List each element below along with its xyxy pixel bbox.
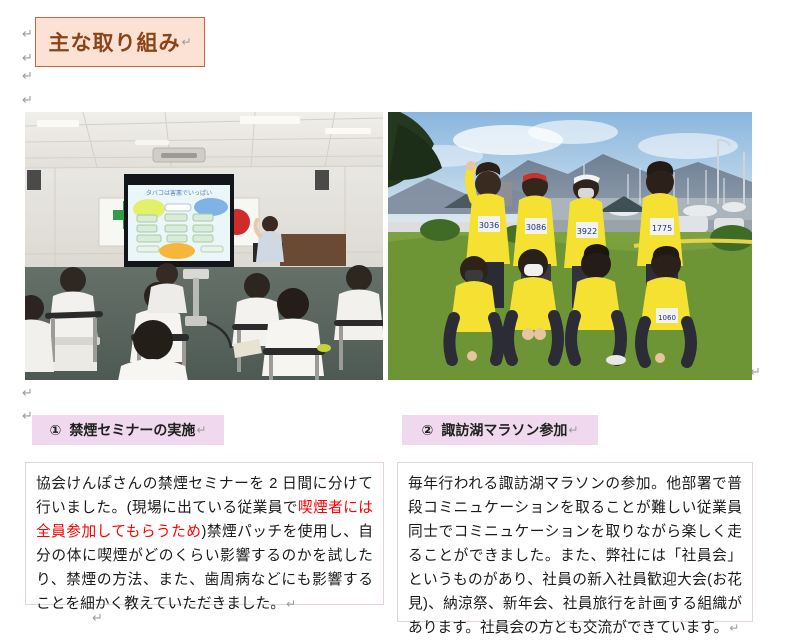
body-left-return-mark: ↵ [285,597,296,611]
para-mark-below-photos: ↵ [22,387,33,400]
marathon-photo-graphic: 3036 3086 3922 [388,112,752,380]
svg-text:3086: 3086 [526,223,546,232]
smoking-cessation-seminar-photo: タバコは害悪でいっぱい [25,112,383,380]
caption-1-return-mark: ↵ [195,423,206,437]
section-title-box: 主な取り組み↵ [35,17,205,67]
body-text-box-right: 毎年行われる諏訪湖マラソンの参加。他部署で普段コミニュケーションを取ることが難し… [397,462,753,622]
caption-box-1: ① 禁煙セミナーの実施↵ [32,415,224,445]
body-right-return-mark: ↵ [728,621,739,635]
svg-text:1775: 1775 [652,224,672,233]
caption-1-number: ① [50,422,62,439]
document-page: ↵ ↵ ↵ ↵ ↵ ↵ ↵ ↵ 主な取り組み↵ [0,0,791,636]
title-return-mark: ↵ [180,35,191,49]
caption-2-number: ② [422,422,434,439]
caption-box-2: ② 諏訪湖マラソン参加↵ [402,415,598,445]
body-text-box-left: 協会けんぽさんの禁煙セミナーを 2 日間に分けて行いました。(現場に出ている従業… [25,462,384,605]
caption-2-return-mark: ↵ [567,423,578,437]
svg-text:タバコは害悪でいっぱい: タバコは害悪でいっぱい [146,189,212,197]
para-mark-below-title: ↵ [22,70,33,83]
body-right-paragraph: 毎年行われる諏訪湖マラソンの参加。他部署で普段コミニュケーションを取ることが難し… [408,472,742,640]
body-right-part1: 毎年行われる諏訪湖マラソンの参加。他部署で普段コミニュケーションを取ることが難し… [408,476,742,636]
para-mark-above-photos: ↵ [22,94,33,107]
body-left-paragraph: 協会けんぽさんの禁煙セミナーを 2 日間に分けて行いました。(現場に出ている従業… [36,472,373,616]
svg-text:1060: 1060 [658,314,676,322]
para-mark-top-left-2: ↵ [22,52,33,65]
svg-text:3036: 3036 [479,221,499,230]
caption-1-label: 禁煙セミナーの実施 [69,420,195,440]
seminar-photo-graphic: タバコは害悪でいっぱい [25,112,383,380]
page-title: 主な取り組み [48,27,180,57]
para-mark-top-left-1: ↵ [22,28,33,41]
suwa-lake-marathon-photo: 3036 3086 3922 [388,112,752,380]
caption-2-label: 諏訪湖マラソン参加 [441,420,567,440]
svg-text:3922: 3922 [577,227,597,236]
